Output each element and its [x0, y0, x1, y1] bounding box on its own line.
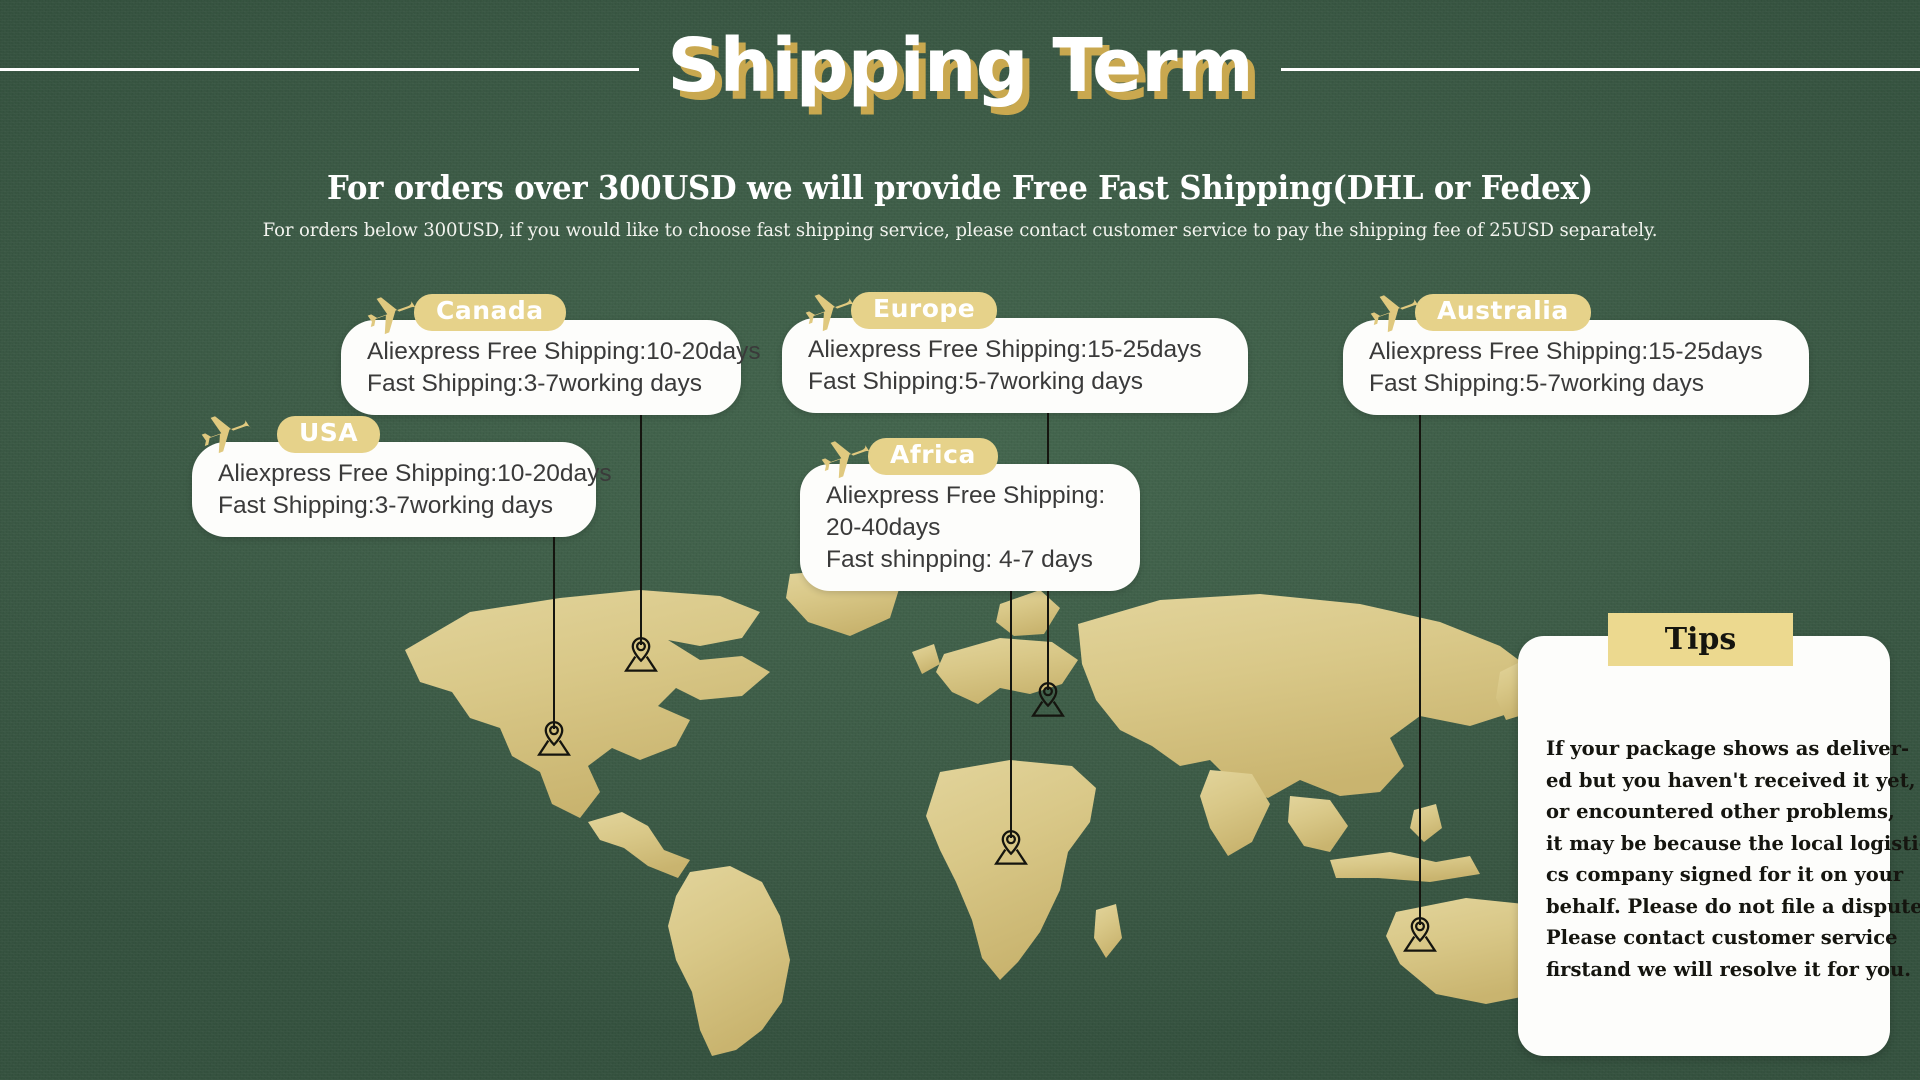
tips-line: it may be because the local logisti- — [1546, 828, 1872, 860]
region-label-australia: Australia — [1415, 294, 1591, 331]
tips-line: behalf. Please do not file a dispute. — [1546, 891, 1872, 923]
headline-text: For orders over 300USD we will provide F… — [67, 168, 1853, 207]
shipping-card-europe[interactable]: Europe Aliexpress Free Shipping:15-25day… — [782, 292, 1248, 413]
tips-line: Please contact customer service — [1546, 922, 1872, 954]
page-title-row: Shipping Term — [0, 14, 1920, 124]
region-label-canada: Canada — [414, 294, 566, 331]
title-rule-right — [1281, 68, 1920, 71]
shipping-card-canada[interactable]: Canada Aliexpress Free Shipping:10-20day… — [341, 294, 741, 415]
tips-line: If your package shows as deliver- — [1546, 733, 1872, 765]
shipping-line: Aliexpress Free Shipping:15-25days — [808, 334, 1222, 366]
tips-heading: Tips — [1608, 613, 1793, 666]
connector-line-usa — [553, 520, 555, 729]
map-pin-marker-africa — [990, 826, 1032, 868]
connector-line-africa — [1010, 560, 1012, 838]
airplane-icon — [358, 289, 420, 341]
airplane-icon — [812, 433, 874, 485]
tips-line: firstand we will resolve it for you. — [1546, 954, 1872, 986]
shipping-line: Fast Shipping:3-7working days — [218, 490, 570, 522]
region-label-africa: Africa — [868, 438, 998, 475]
shipping-card-usa[interactable]: USA Aliexpress Free Shipping:10-20days F… — [192, 414, 596, 537]
tips-line: or encountered other problems, — [1546, 796, 1872, 828]
region-label-usa: USA — [277, 416, 380, 453]
shipping-line: Aliexpress Free Shipping:15-25days — [1369, 336, 1783, 368]
region-label-europe: Europe — [851, 292, 997, 329]
map-pin-marker-europe — [1027, 678, 1069, 720]
map-pin-marker-australia — [1399, 913, 1441, 955]
map-pin-marker-canada — [620, 633, 662, 675]
shipping-line: Fast Shipping:5-7working days — [1369, 368, 1783, 400]
shipping-card-africa[interactable]: Africa Aliexpress Free Shipping: 20-40da… — [800, 438, 1140, 591]
connector-line-canada — [640, 400, 642, 645]
shipping-card-australia[interactable]: Australia Aliexpress Free Shipping:15-25… — [1343, 294, 1809, 415]
shipping-line: Aliexpress Free Shipping:10-20days — [218, 458, 570, 490]
shipping-line: Fast Shipping:3-7working days — [367, 368, 715, 400]
tips-line: ed but you haven't received it yet, — [1546, 765, 1872, 797]
connector-line-australia — [1419, 400, 1421, 925]
tips-body-text: If your package shows as deliver- ed but… — [1546, 733, 1872, 986]
page-title: Shipping Term — [667, 29, 1253, 109]
subheadline-text: For orders below 300USD, if you would li… — [48, 219, 1872, 241]
tips-line: cs company signed for it on your — [1546, 859, 1872, 891]
map-pin-marker-usa — [533, 717, 575, 759]
shipping-line: 20-40days — [826, 512, 1114, 544]
map-landmasses — [405, 568, 1636, 1056]
airplane-icon — [796, 286, 858, 338]
tips-panel[interactable]: Tips If your package shows as deliver- e… — [1518, 613, 1890, 1056]
airplane-icon — [1361, 287, 1423, 339]
airplane-icon — [192, 408, 254, 460]
title-rule-left — [0, 68, 639, 71]
shipping-line: Fast shinpping: 4-7 days — [826, 544, 1114, 576]
shipping-line: Fast Shipping:5-7working days — [808, 366, 1222, 398]
